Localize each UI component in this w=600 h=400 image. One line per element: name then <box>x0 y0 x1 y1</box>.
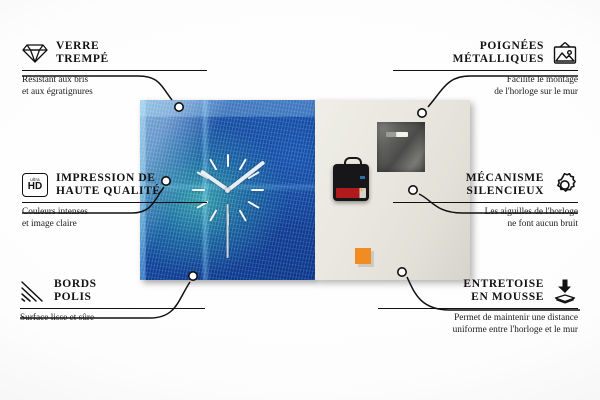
ultra-hd-icon: ultra HD <box>22 172 48 198</box>
feature-mecanisme-silencieux: MÉCANISME SILENCIEUX Les aiguilles de l'… <box>393 172 578 230</box>
feature-title: BORDS POLIS <box>54 278 97 304</box>
feature-poignees-metalliques: POIGNÉES MÉTALLIQUES Facilite le montage… <box>393 40 578 98</box>
clock-minute-hand <box>226 160 264 191</box>
foam-spacer-part <box>355 248 371 264</box>
infographic-canvas: VERRE TREMPÉ Résistant aux bris et aux é… <box>0 0 600 400</box>
divider <box>22 202 207 203</box>
wall-hanger-icon <box>552 40 578 66</box>
battery-part <box>336 188 366 198</box>
feature-subtitle: Les aiguilles de l'horloge ne font aucun… <box>393 207 578 230</box>
feature-entretoise-en-mousse: ENTRETOISE EN MOUSSE Permet de maintenir… <box>378 278 578 336</box>
foam-spacer-icon <box>552 278 578 304</box>
feature-title: POIGNÉES MÉTALLIQUES <box>453 40 544 66</box>
feature-heading: VERRE TREMPÉ <box>22 40 207 66</box>
feature-verre-trempe: VERRE TREMPÉ Résistant aux bris et aux é… <box>22 40 207 98</box>
hd-badge-main-text: HD <box>28 182 42 192</box>
clock-mechanism-part <box>333 164 369 201</box>
divider <box>378 308 578 309</box>
gear-icon <box>552 172 578 198</box>
feature-heading: ENTRETOISE EN MOUSSE <box>378 278 578 304</box>
metal-hanger-part <box>377 122 425 172</box>
feature-subtitle: Surface lisse et sûre <box>20 313 205 324</box>
feature-heading: ultra HD IMPRESSION DE HAUTE QUALITÉ <box>22 172 207 198</box>
feature-heading: POIGNÉES MÉTALLIQUES <box>393 40 578 66</box>
feature-title: VERRE TREMPÉ <box>56 40 109 66</box>
feature-title: IMPRESSION DE HAUTE QUALITÉ <box>56 172 161 198</box>
clock-center-pin <box>225 188 230 193</box>
feature-title: ENTRETOISE EN MOUSSE <box>463 278 544 304</box>
feature-impression-haute-qualite: ultra HD IMPRESSION DE HAUTE QUALITÉ Cou… <box>22 172 207 230</box>
feature-bords-polis: BORDS POLIS Surface lisse et sûre <box>20 278 205 325</box>
diamond-icon <box>22 40 48 66</box>
polished-edges-icon <box>20 278 46 304</box>
divider <box>393 202 578 203</box>
feature-heading: BORDS POLIS <box>20 278 205 304</box>
divider <box>22 70 207 71</box>
mechanism-detail <box>360 176 365 179</box>
hd-badge: ultra HD <box>22 173 48 197</box>
feature-subtitle: Permet de maintenir une distance uniform… <box>378 313 578 336</box>
feature-title: MÉCANISME SILENCIEUX <box>466 172 544 198</box>
hanger-loop-icon <box>344 157 362 168</box>
divider <box>20 308 205 309</box>
feature-subtitle: Couleurs intenses et image claire <box>22 207 207 230</box>
clock-second-hand <box>227 204 229 258</box>
feature-subtitle: Résistant aux bris et aux égratignures <box>22 75 207 98</box>
divider <box>393 70 578 71</box>
feature-heading: MÉCANISME SILENCIEUX <box>393 172 578 198</box>
feature-subtitle: Facilite le montage de l'horloge sur le … <box>393 75 578 98</box>
